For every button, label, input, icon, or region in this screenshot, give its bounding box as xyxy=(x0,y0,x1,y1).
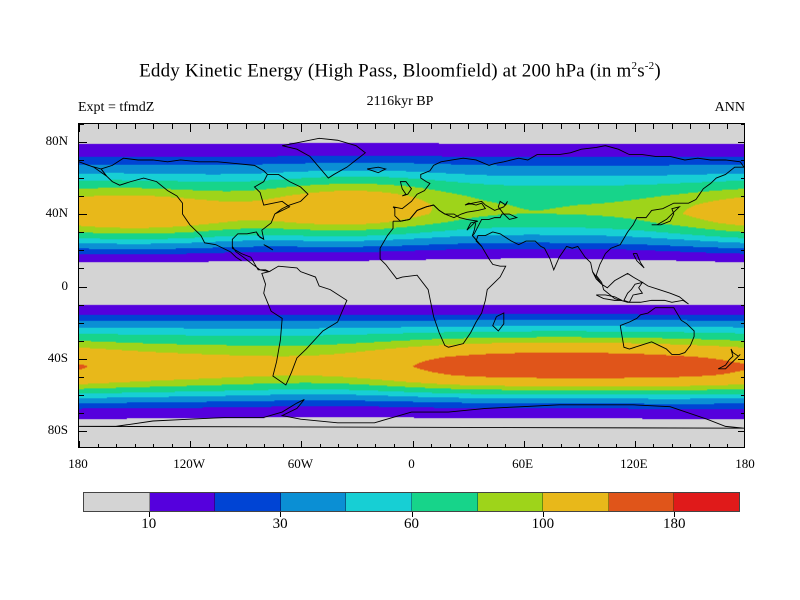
colorbar-label-100: 100 xyxy=(532,516,555,533)
colorbar-label-60: 60 xyxy=(404,516,419,533)
colorbar-label-180: 180 xyxy=(663,516,686,533)
lon-label-0: 0 xyxy=(408,456,415,472)
colorbar-label-30: 30 xyxy=(273,516,288,533)
page-title: Eddy Kinetic Energy (High Pass, Bloomfie… xyxy=(0,60,800,82)
colorbar-segment-orange[interactable] xyxy=(609,493,675,511)
coastline-path xyxy=(101,158,347,385)
lat-label-80S: 80S xyxy=(0,422,68,438)
lon-label-180: 180 xyxy=(735,456,755,472)
colorbar-segment-gold[interactable] xyxy=(543,493,609,511)
colorbar[interactable] xyxy=(83,492,740,512)
coastline-path xyxy=(718,349,740,369)
figure-root: Eddy Kinetic Energy (High Pass, Bloomfie… xyxy=(0,0,800,600)
map-plot-area xyxy=(78,123,745,448)
coastline-path xyxy=(264,245,273,250)
title-main: Eddy Kinetic Energy (High Pass, Bloomfie… xyxy=(139,60,631,81)
colorbar-label-10: 10 xyxy=(141,516,156,533)
coastline-path xyxy=(79,399,744,428)
colorbar-segment-cyan[interactable] xyxy=(346,493,412,511)
lat-label-0: 0 xyxy=(0,278,68,294)
coastline-path xyxy=(79,162,107,176)
coastline-path xyxy=(493,313,504,331)
coastline-path xyxy=(393,146,744,304)
colorbar-segment-green[interactable] xyxy=(412,493,478,511)
coastline-overlay xyxy=(79,124,744,448)
coastline-path xyxy=(282,138,365,178)
lon-label-60E: 60E xyxy=(512,456,533,472)
colorbar-segment-violet[interactable] xyxy=(150,493,216,511)
lon-label-180: 180 xyxy=(68,456,88,472)
lat-label-40S: 40S xyxy=(0,350,68,366)
coastline-path xyxy=(620,308,694,355)
colorbar-segment-gray[interactable] xyxy=(84,493,150,511)
lon-label-60W: 60W xyxy=(288,456,313,472)
lat-label-40N: 40N xyxy=(0,205,68,221)
colorbar-segment-azure[interactable] xyxy=(281,493,347,511)
period-label: 2116kyr BP xyxy=(0,94,800,110)
title-superscript-minus2: -2 xyxy=(645,60,655,72)
coastline-path xyxy=(380,201,517,347)
coastline-path xyxy=(624,282,642,302)
lon-label-120E: 120E xyxy=(620,456,647,472)
coastline-path xyxy=(367,167,386,172)
colorbar-segment-yellow-green[interactable] xyxy=(478,493,544,511)
title-tail: ) xyxy=(654,60,661,81)
coastline-path xyxy=(633,254,644,268)
colorbar-segment-blue[interactable] xyxy=(215,493,281,511)
colorbar-segment-red[interactable] xyxy=(674,493,739,511)
lat-label-80N: 80N xyxy=(0,133,68,149)
coastline-path xyxy=(400,182,411,196)
title-mid: s xyxy=(637,60,645,81)
season-label: ANN xyxy=(715,100,745,116)
lon-label-120W: 120W xyxy=(173,456,205,472)
